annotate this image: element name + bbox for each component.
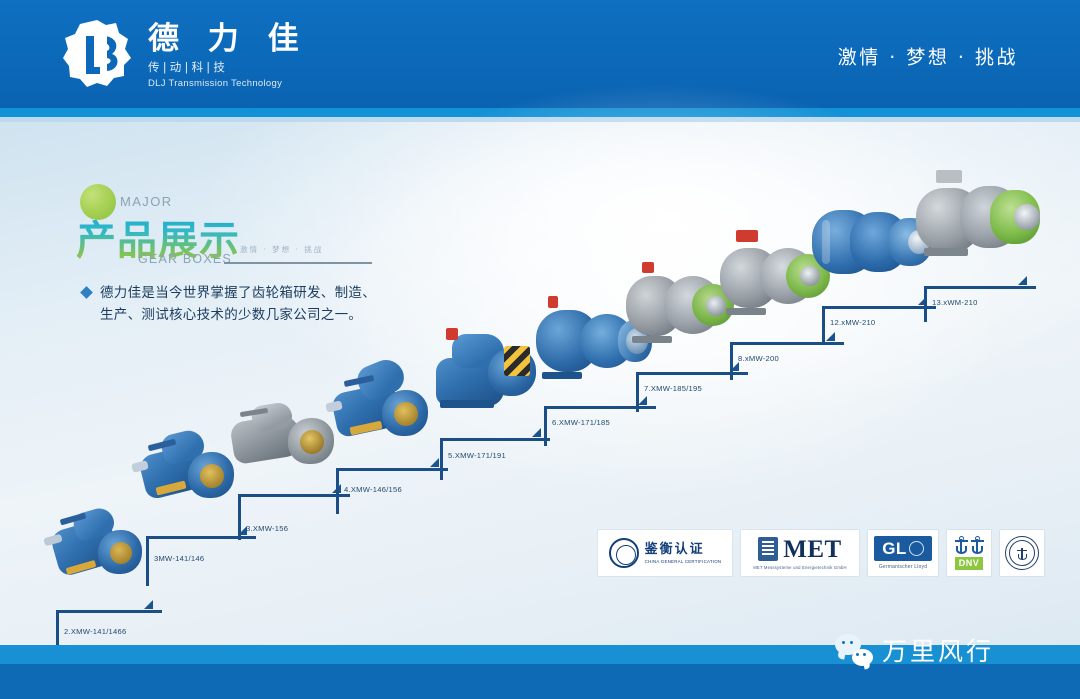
product-caption-5: 5.XMW-171/191 <box>448 451 506 460</box>
met-logo: MET MET Messsysteme und Energietechnik G… <box>741 530 859 576</box>
product-caption-3: 3.XMW-156 <box>246 524 288 533</box>
wechat-icon <box>835 634 873 666</box>
seal-ring-icon <box>1005 536 1039 570</box>
dnv-anchor-icons <box>955 536 984 555</box>
page-header: 德 力 佳 传|动|科|技 DLJ Transmission Technolog… <box>0 0 1080 108</box>
header-accent-stripe <box>0 108 1080 117</box>
met-book-icon <box>758 537 778 561</box>
gl-subtitle: Germanischer Lloyd <box>879 564 927 570</box>
brand-name-cn: 德 力 佳 <box>148 23 308 56</box>
product-caption-8: 8.xMW-200 <box>738 354 779 363</box>
cgc-name-en: CHINA GENERAL CERTIFICATION <box>645 559 722 564</box>
germanischer-lloyd-logo: GL Germanischer Lloyd <box>868 530 938 576</box>
header-slogan: 激情 · 梦想 · 挑战 <box>838 43 1018 70</box>
met-name: MET <box>783 537 841 562</box>
cgc-ring-icon <box>609 538 639 568</box>
slide-page: 德 力 佳 传|动|科|技 DLJ Transmission Technolog… <box>0 0 1080 699</box>
cgc-name-cn: 鉴衡认证 <box>645 543 722 556</box>
anchor-icon <box>955 536 968 555</box>
wechat-watermark: 万里风行 <box>835 632 994 668</box>
product-caption-7: 7.XMW-185/195 <box>644 384 702 393</box>
product-caption-1: 2.XMW-141/1466 <box>64 627 126 636</box>
brand-name-en: DLJ Transmission Technology <box>148 78 308 89</box>
product-caption-10: 13.xWM-210 <box>932 298 978 307</box>
watermark-text: 万里风行 <box>882 632 994 668</box>
product-caption-9: 12.xMW-210 <box>830 318 875 327</box>
dnv-name: DNV <box>955 557 984 570</box>
dlj-gear-logo-icon <box>60 18 134 92</box>
gearbox-13-image <box>916 164 1056 274</box>
product-caption-6: 6.XMW-171/185 <box>552 418 610 427</box>
brand-tagline-cn: 传|动|科|技 <box>148 59 308 75</box>
gl-globe-icon <box>909 541 924 556</box>
bracket-arrow-icon <box>1018 276 1027 285</box>
product-caption-2: 3MW-141/146 <box>154 554 204 563</box>
gearbox-4-image <box>324 356 440 456</box>
dnv-logo: DNV <box>947 530 991 576</box>
anchor-icon <box>971 536 984 555</box>
met-subtitle: MET Messsysteme und Energietechnik GmbH <box>753 565 847 570</box>
page-footer <box>0 664 1080 699</box>
anchor-icon <box>1017 546 1027 561</box>
gl-name: GL <box>882 540 907 557</box>
maritime-seal-logo <box>1000 530 1044 576</box>
product-caption-4: 4.XMW-146/156 <box>344 485 402 494</box>
brand-wordmark: 德 力 佳 传|动|科|技 DLJ Transmission Technolog… <box>148 21 308 89</box>
bracket-arrow-icon <box>144 600 153 609</box>
certification-logos: 鉴衡认证 CHINA GENERAL CERTIFICATION MET MET… <box>598 530 1044 576</box>
brand-logo: 德 力 佳 传|动|科|技 DLJ Transmission Technolog… <box>60 18 308 92</box>
cgc-certification-logo: 鉴衡认证 CHINA GENERAL CERTIFICATION <box>598 530 732 576</box>
